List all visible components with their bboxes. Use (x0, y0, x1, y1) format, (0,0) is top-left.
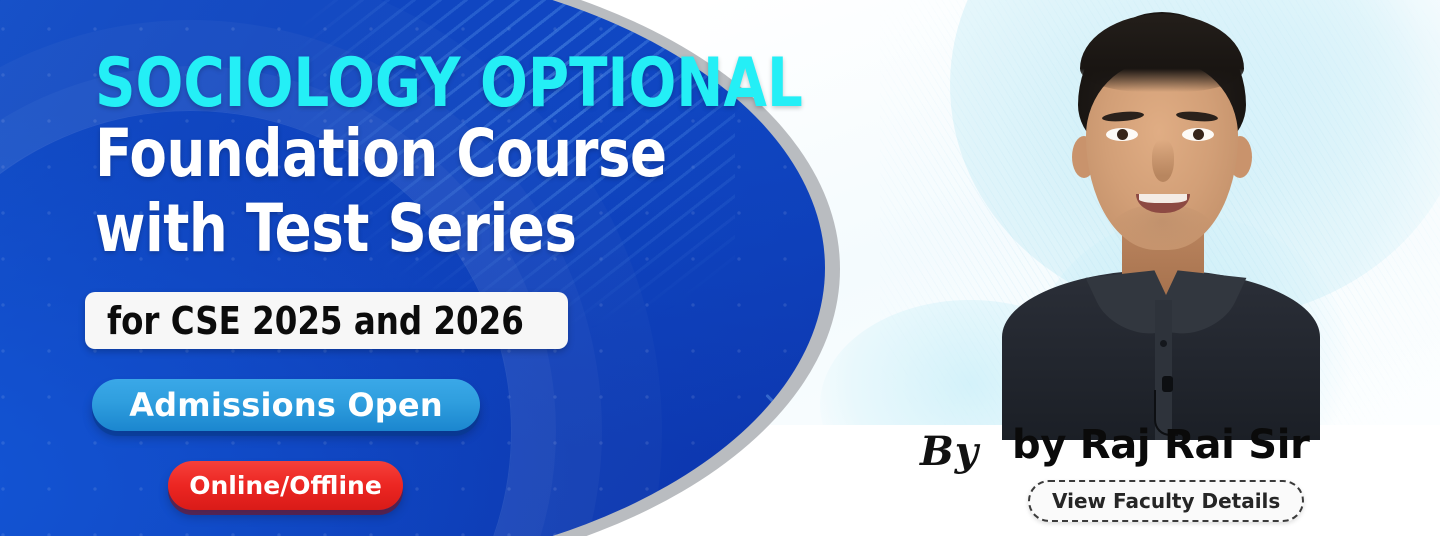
headline-line-3: with Test Series (95, 190, 576, 267)
online-offline-label: Online/Offline (189, 471, 382, 500)
exam-year-badge-label: for CSE 2025 and 2026 (107, 299, 524, 343)
admissions-open-label: Admissions Open (129, 386, 443, 424)
by-script-text: By (920, 428, 979, 475)
faculty-credit: By by Raj Rai Sir View Faculty Details (900, 418, 1360, 528)
eye-left (1106, 128, 1138, 141)
online-offline-button[interactable]: Online/Offline (168, 461, 403, 510)
faculty-portrait (1010, 8, 1310, 428)
teeth (1139, 194, 1187, 203)
admissions-open-button[interactable]: Admissions Open (92, 379, 480, 431)
nose (1152, 140, 1174, 182)
headline-line-2: Foundation Course (95, 115, 667, 192)
faculty-name: by Raj Rai Sir (1012, 422, 1310, 468)
headline-line-1: SOCIOLOGY OPTIONAL (95, 44, 803, 123)
eye-right (1182, 128, 1214, 141)
promo-content: SOCIOLOGY OPTIONAL Foundation Course wit… (0, 0, 760, 536)
view-faculty-details-button[interactable]: View Faculty Details (1028, 480, 1304, 522)
cross-mark-icon (762, 390, 792, 420)
hair-fringe (1080, 14, 1244, 92)
exam-year-badge: for CSE 2025 and 2026 (85, 292, 568, 349)
shirt-button (1160, 340, 1167, 347)
course-promo-banner: SOCIOLOGY OPTIONAL Foundation Course wit… (0, 0, 1440, 536)
